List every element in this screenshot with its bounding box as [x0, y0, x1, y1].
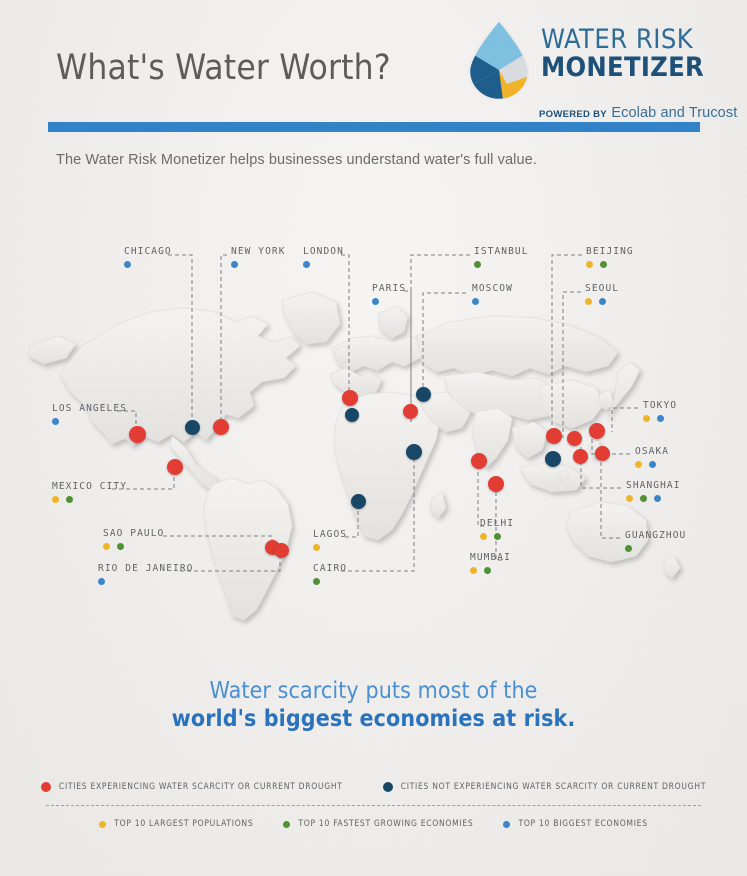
page-title: What's Water Worth? — [56, 48, 391, 88]
category-dot-big — [124, 261, 131, 268]
category-dots — [625, 545, 686, 552]
legend-category-row: TOP 10 LARGEST POPULATIONS TOP 10 FASTES… — [0, 819, 747, 829]
category-dots — [372, 298, 406, 305]
category-dot-big — [52, 418, 59, 425]
city-marker-new-york[interactable] — [213, 419, 229, 435]
category-dots — [586, 261, 634, 268]
headline-block: Water scarcity puts most of the world's … — [0, 678, 747, 732]
category-dot-pop — [643, 415, 650, 422]
legend-dot-red — [41, 782, 51, 792]
category-dot-pop — [313, 544, 320, 551]
map-label-paris: PARIS — [372, 283, 406, 305]
category-dot-grow — [625, 545, 632, 552]
map-label-mexico-city: MEXICO CITY — [52, 481, 127, 503]
category-dots — [124, 261, 172, 268]
category-dots — [643, 415, 677, 422]
legend-divider — [46, 805, 701, 806]
category-dot-grow — [484, 567, 491, 574]
city-name: PARIS — [372, 283, 406, 294]
map-label-cairo: CAIRO — [313, 563, 347, 585]
city-marker-shanghai[interactable] — [573, 449, 588, 464]
map-label-mumbai: MUMBAI — [470, 552, 511, 574]
city-marker-london[interactable] — [342, 390, 358, 406]
city-name: LOS ANGELES — [52, 403, 127, 414]
category-dots — [470, 567, 511, 574]
legend-label: TOP 10 BIGGEST ECONOMIES — [518, 819, 647, 829]
leader-lines — [0, 196, 747, 666]
city-marker-seoul[interactable] — [567, 431, 582, 446]
logo-wordmark: WATER RISK MONETIZER — [541, 26, 704, 83]
city-name: OSAKA — [635, 446, 669, 457]
powered-by-label: POWERED BY — [539, 109, 607, 120]
category-dot-grow — [474, 261, 481, 268]
category-dots — [52, 496, 127, 503]
legend-item-scarcity-navy: CITIES NOT EXPERIENCING WATER SCARCITY O… — [383, 782, 706, 792]
legend-item-growing-economies: TOP 10 FASTEST GROWING ECONOMIES — [283, 819, 473, 829]
map-label-los-angeles: LOS ANGELES — [52, 403, 127, 425]
category-dot-pop — [103, 543, 110, 550]
category-dot-big — [599, 298, 606, 305]
category-dot-big — [657, 415, 664, 422]
headline-line-1: Water scarcity puts most of the — [0, 678, 747, 704]
infographic-page: What's Water Worth? The Water Risk Monet… — [0, 0, 747, 876]
category-dot-big — [472, 298, 479, 305]
city-marker-cairo[interactable] — [406, 444, 422, 460]
water-droplet-icon — [463, 18, 535, 100]
legend-label: CITIES EXPERIENCING WATER SCARCITY OR CU… — [59, 782, 343, 792]
category-dot-pop — [470, 567, 477, 574]
city-name: LAGOS — [313, 529, 347, 540]
logo-line-1: WATER RISK — [541, 26, 704, 54]
logo-line-2: MONETIZER — [541, 54, 704, 82]
category-dots — [103, 543, 164, 550]
category-dot-pop — [626, 495, 633, 502]
map-label-shanghai: SHANGHAI — [626, 480, 681, 502]
city-name: CAIRO — [313, 563, 347, 574]
header-accent-rule — [48, 122, 700, 132]
map-label-tokyo: TOKYO — [643, 400, 677, 422]
logo-powered-by: POWERED BY Ecolab and Trucost — [539, 104, 737, 122]
category-dots — [626, 495, 681, 502]
category-dot-big — [231, 261, 238, 268]
legend-dot-pop — [99, 821, 106, 828]
category-dot-big — [372, 298, 379, 305]
map-label-new-york: NEW YORK — [231, 246, 286, 268]
category-dots — [480, 533, 514, 540]
city-name: TOKYO — [643, 400, 677, 411]
world-map-panel: CHICAGO NEW YORK LONDON PARIS ISTANBUL M… — [0, 196, 747, 666]
category-dots — [313, 578, 347, 585]
city-marker-delhi[interactable] — [471, 453, 487, 469]
city-name: GUANGZHOU — [625, 530, 686, 541]
page-subtitle: The Water Risk Monetizer helps businesse… — [56, 152, 537, 168]
category-dot-pop — [480, 533, 487, 540]
legend-label: CITIES NOT EXPERIENCING WATER SCARCITY O… — [401, 782, 706, 792]
category-dot-pop — [586, 261, 593, 268]
city-marker-moscow[interactable] — [416, 387, 431, 402]
category-dots — [585, 298, 619, 305]
city-name: NEW YORK — [231, 246, 286, 257]
legend-item-biggest-economies: TOP 10 BIGGEST ECONOMIES — [503, 819, 647, 829]
map-label-moscow: MOSCOW — [472, 283, 513, 305]
map-label-lagos: LAGOS — [313, 529, 347, 551]
map-label-delhi: DELHI — [480, 518, 514, 540]
map-label-seoul: SEOUL — [585, 283, 619, 305]
city-name: DELHI — [480, 518, 514, 529]
legend-label: TOP 10 LARGEST POPULATIONS — [114, 819, 253, 829]
category-dot-big — [303, 261, 310, 268]
category-dots — [474, 261, 529, 268]
category-dot-pop — [585, 298, 592, 305]
city-name: BEIJING — [586, 246, 634, 257]
city-name: LONDON — [303, 246, 344, 257]
map-label-guangzhou: GUANGZHOU — [625, 530, 686, 552]
category-dot-big — [98, 578, 105, 585]
legend-dot-grow — [283, 821, 290, 828]
category-dot-grow — [313, 578, 320, 585]
city-marker-istanbul[interactable] — [403, 404, 418, 419]
map-label-istanbul: ISTANBUL — [474, 246, 529, 268]
map-label-rio-de-janeiro: RIO DE JANEIRO — [98, 563, 193, 585]
legend-dot-big — [503, 821, 510, 828]
city-marker-guangzhou[interactable] — [545, 451, 561, 467]
category-dot-pop — [635, 461, 642, 468]
city-marker-osaka[interactable] — [595, 446, 610, 461]
legend-scarcity-row: CITIES EXPERIENCING WATER SCARCITY OR CU… — [0, 782, 747, 792]
category-dots — [472, 298, 513, 305]
category-dots — [313, 544, 347, 551]
city-marker-beijing[interactable] — [546, 428, 562, 444]
city-marker-paris[interactable] — [345, 408, 359, 422]
map-label-chicago: CHICAGO — [124, 246, 172, 268]
legend-item-populations: TOP 10 LARGEST POPULATIONS — [99, 819, 253, 829]
headline-line-2: world's biggest economies at risk. — [0, 706, 747, 732]
city-marker-los-angeles[interactable] — [129, 426, 146, 443]
city-name: ISTANBUL — [474, 246, 529, 257]
city-name: SAO PAULO — [103, 528, 164, 539]
city-name: SEOUL — [585, 283, 619, 294]
city-name: MEXICO CITY — [52, 481, 127, 492]
map-label-sao-paulo: SAO PAULO — [103, 528, 164, 550]
legend-dot-navy — [383, 782, 393, 792]
category-dot-grow — [66, 496, 73, 503]
category-dots — [52, 418, 127, 425]
map-label-london: LONDON — [303, 246, 344, 268]
category-dot-grow — [640, 495, 647, 502]
map-label-osaka: OSAKA — [635, 446, 669, 468]
category-dot-big — [649, 461, 656, 468]
city-marker-mumbai[interactable] — [488, 476, 504, 492]
category-dots — [98, 578, 193, 585]
water-risk-monetizer-logo: WATER RISK MONETIZER POWERED BY Ecolab a… — [463, 16, 703, 112]
city-marker-lagos[interactable] — [351, 494, 366, 509]
legend-item-scarcity-red: CITIES EXPERIENCING WATER SCARCITY OR CU… — [41, 782, 343, 792]
city-marker-mexico-city[interactable] — [167, 459, 183, 475]
category-dot-grow — [117, 543, 124, 550]
category-dot-big — [654, 495, 661, 502]
legend: CITIES EXPERIENCING WATER SCARCITY OR CU… — [0, 782, 747, 829]
city-name: MOSCOW — [472, 283, 513, 294]
city-name: CHICAGO — [124, 246, 172, 257]
map-label-beijing: BEIJING — [586, 246, 634, 268]
category-dots — [231, 261, 286, 268]
category-dot-grow — [600, 261, 607, 268]
category-dots — [303, 261, 344, 268]
header: What's Water Worth? The Water Risk Monet… — [0, 0, 747, 140]
city-marker-tokyo[interactable] — [589, 423, 605, 439]
city-name: SHANGHAI — [626, 480, 681, 491]
city-marker-rio-de-janeiro[interactable] — [274, 543, 289, 558]
category-dot-pop — [52, 496, 59, 503]
city-marker-chicago[interactable] — [185, 420, 200, 435]
city-name: MUMBAI — [470, 552, 511, 563]
legend-label: TOP 10 FASTEST GROWING ECONOMIES — [298, 819, 473, 829]
category-dots — [635, 461, 669, 468]
category-dot-grow — [494, 533, 501, 540]
city-name: RIO DE JANEIRO — [98, 563, 193, 574]
logo-partners: Ecolab and Trucost — [611, 105, 737, 121]
